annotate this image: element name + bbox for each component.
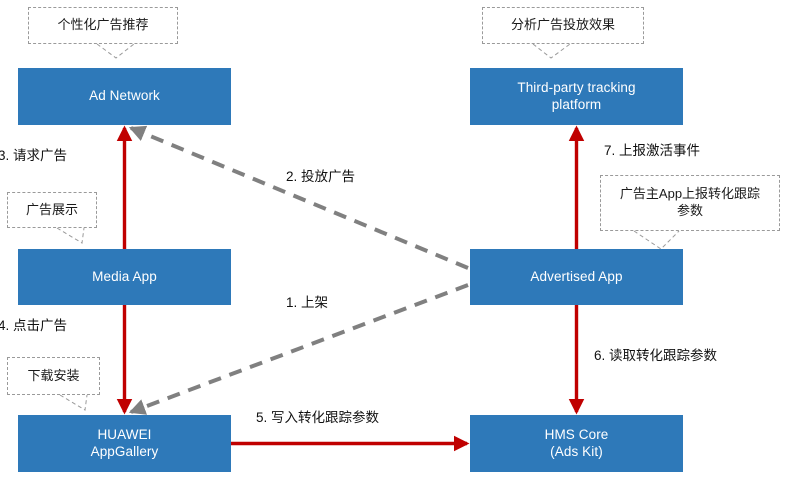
node-ad-network-label: Ad Network — [89, 88, 160, 105]
step-label-4: 4. 点击广告 — [0, 314, 67, 334]
callout-advertiser-app-report-label: 广告主App上报转化跟踪 参数 — [620, 186, 760, 220]
diagram-canvas: Ad Network Third-party tracking platform… — [0, 0, 789, 477]
callout-advertiser-app-report: 广告主App上报转化跟踪 参数 — [600, 175, 780, 231]
step-label-1: 1. 上架 — [286, 291, 328, 311]
node-hms-core-label: HMS Core (Ads Kit) — [545, 427, 609, 461]
step-label-3: 3. 请求广告 — [0, 144, 67, 164]
node-third-party-tracking-platform[interactable]: Third-party tracking platform — [470, 68, 683, 125]
step-label-7: 7. 上报激活事件 — [604, 139, 700, 159]
node-ad-network[interactable]: Ad Network — [18, 68, 231, 125]
node-media-app-label: Media App — [92, 269, 157, 286]
callout-analyze-ad-performance: 分析广告投放效果 — [482, 7, 644, 44]
callout-download-install: 下载安装 — [7, 357, 100, 395]
node-hms-core[interactable]: HMS Core (Ads Kit) — [470, 415, 683, 472]
callout-tail-analyze-ad-performance — [533, 44, 570, 58]
callout-download-install-label: 下载安装 — [27, 368, 79, 385]
step-label-6: 6. 读取转化跟踪参数 — [594, 344, 717, 364]
node-third-party-tracking-platform-label: Third-party tracking platform — [517, 80, 635, 114]
node-media-app[interactable]: Media App — [18, 249, 231, 305]
node-advertised-app[interactable]: Advertised App — [470, 249, 683, 305]
connector-step-2 — [131, 128, 468, 268]
callout-tail-personalized-ads — [97, 44, 134, 58]
callout-ad-display-label: 广告展示 — [26, 202, 78, 219]
callout-analyze-ad-performance-label: 分析广告投放效果 — [511, 17, 615, 34]
callout-tail-ad-display — [57, 228, 84, 243]
node-huawei-appgallery[interactable]: HUAWEI AppGallery — [18, 415, 231, 472]
node-advertised-app-label: Advertised App — [530, 269, 622, 286]
step-label-2: 2. 投放广告 — [286, 165, 355, 185]
callout-tail-download-install — [60, 395, 87, 410]
node-huawei-appgallery-label: HUAWEI AppGallery — [91, 427, 159, 461]
callout-tail-advertiser-app-report — [634, 231, 679, 249]
step-label-5: 5. 写入转化跟踪参数 — [256, 406, 379, 426]
callout-personalized-ads: 个性化广告推荐 — [28, 7, 178, 44]
callout-ad-display: 广告展示 — [7, 192, 97, 228]
callout-personalized-ads-label: 个性化广告推荐 — [57, 17, 148, 34]
